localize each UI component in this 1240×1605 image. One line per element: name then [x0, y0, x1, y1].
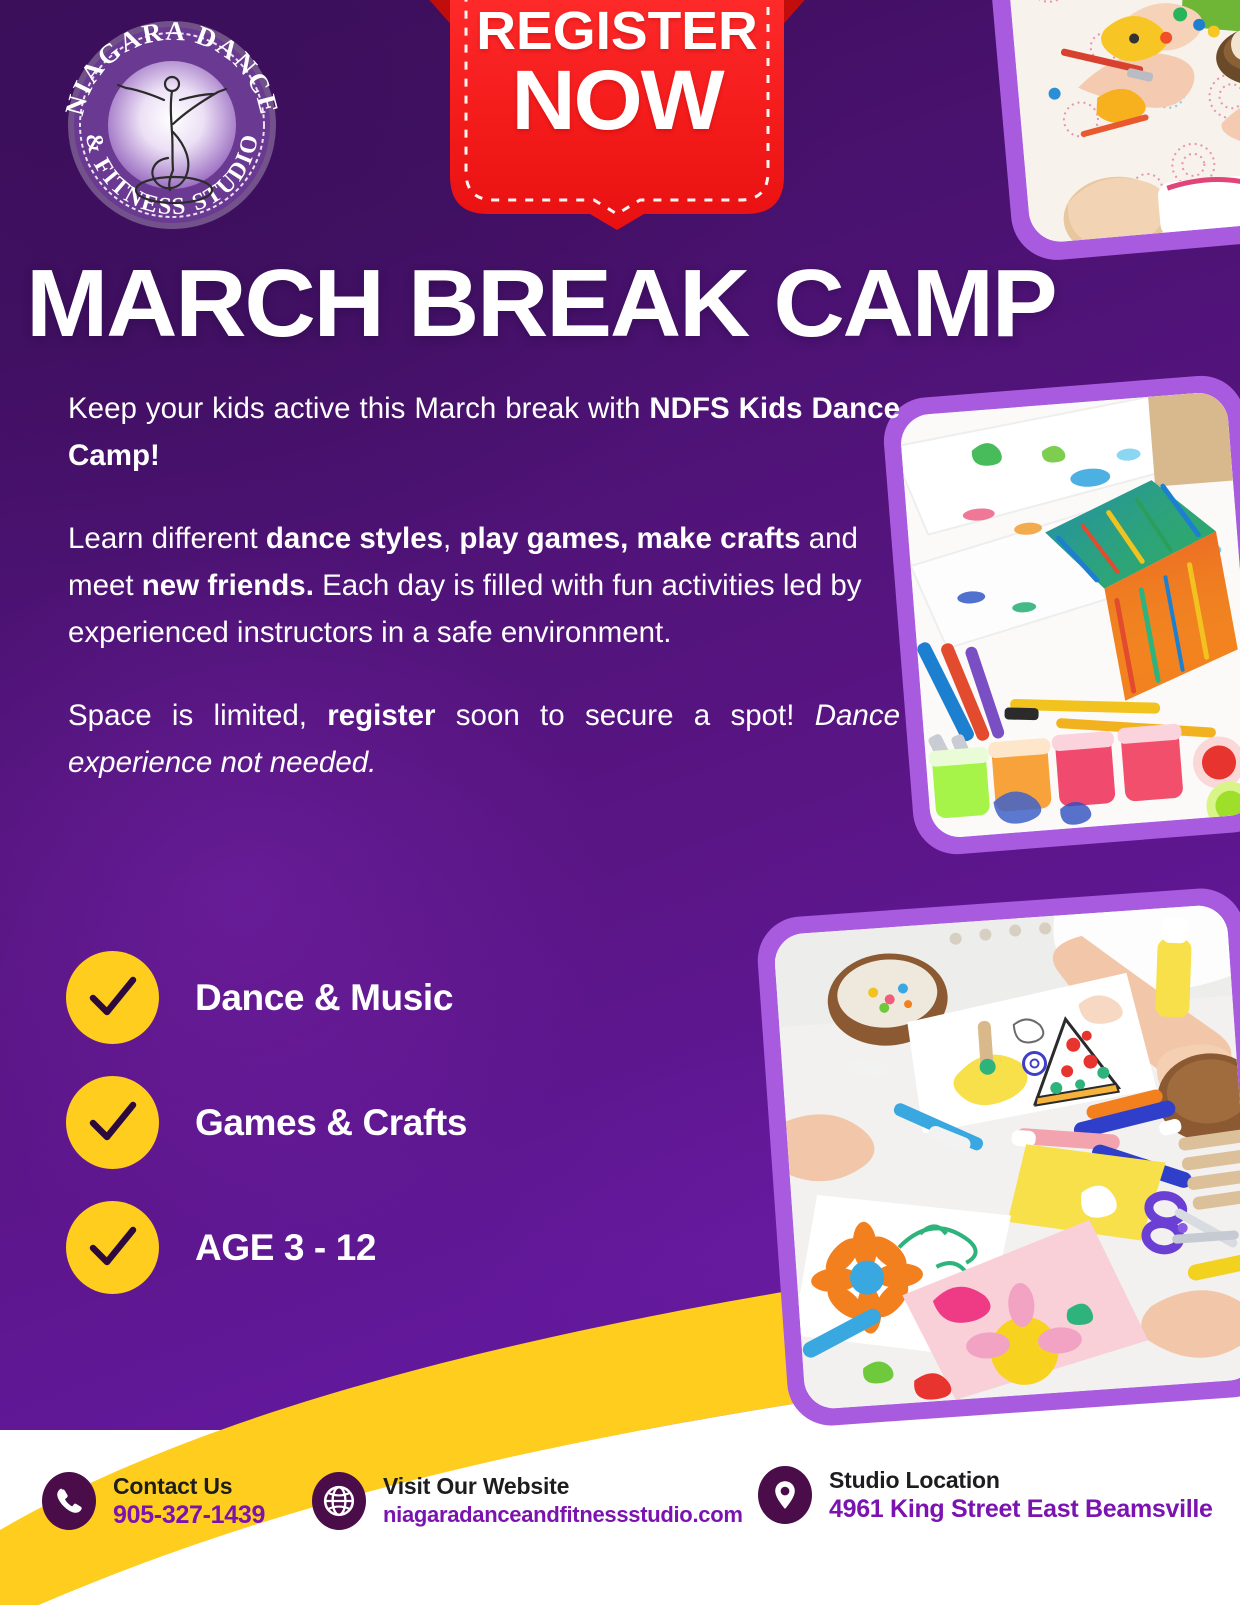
map-pin-icon-badge — [758, 1466, 812, 1524]
paint-jars-and-painted-house-photo — [881, 373, 1240, 858]
page-title: MARCH BREAK CAMP — [26, 252, 1240, 356]
checklist-label: Games & Crafts — [195, 1102, 467, 1144]
act-new-friends: new friends. — [142, 569, 314, 602]
checklist-label: Dance & Music — [195, 977, 453, 1019]
urg-c: soon to secure a spot! — [436, 699, 815, 732]
intro-paragraph: Keep your kids active this March break w… — [68, 385, 900, 479]
urgency-paragraph: Space is limited, register soon to secur… — [68, 692, 900, 786]
checklist-item-games-crafts: Games & Crafts — [66, 1060, 467, 1185]
act-dance-styles: dance styles — [266, 522, 443, 555]
checklist-item-age-range: AGE 3 - 12 — [66, 1185, 467, 1310]
poster-root: NIAGARA DANCE & FITNESS STUDIO — [0, 0, 1240, 1605]
check-icon — [83, 1218, 143, 1278]
check-icon — [83, 1093, 143, 1153]
act-make-crafts: make crafts — [637, 522, 801, 555]
phone-texts: Contact Us 905-327-1439 — [113, 1472, 265, 1530]
location-label: Studio Location — [829, 1466, 1213, 1494]
check-badge — [66, 951, 159, 1044]
studio-logo: NIAGARA DANCE & FITNESS STUDIO — [52, 12, 292, 238]
checklist-item-dance-music: Dance & Music — [66, 935, 467, 1060]
act-d — [628, 522, 636, 555]
body-copy: Keep your kids active this March break w… — [68, 385, 900, 822]
photo-image-top — [1005, 0, 1240, 244]
feature-checklist: Dance & Music Games & Crafts AGE 3 - 12 — [66, 935, 467, 1310]
photo-art-mid — [899, 391, 1240, 839]
checklist-label: AGE 3 - 12 — [195, 1227, 376, 1269]
urg-register: register — [327, 699, 435, 732]
phone-icon — [52, 1484, 86, 1518]
act-c: , — [443, 522, 459, 555]
phone-label: Contact Us — [113, 1472, 265, 1500]
kids-crafting-with-markers-photo — [755, 886, 1240, 1429]
ribbon-shape — [382, 0, 852, 230]
photo-image-bot — [773, 904, 1240, 1411]
act-play-games: play games, — [459, 522, 628, 555]
location-address: 4961 King Street East Beamsville — [829, 1494, 1213, 1524]
footer-contact-phone[interactable]: Contact Us 905-327-1439 — [42, 1472, 265, 1530]
location-texts: Studio Location 4961 King Street East Be… — [829, 1466, 1213, 1524]
kids-painting-easter-eggs-photo — [986, 0, 1240, 264]
act-a: Learn different — [68, 522, 266, 555]
footer-contact-bar: Contact Us 905-327-1439 Visit Our Websit… — [0, 1432, 1240, 1605]
map-pin-icon — [768, 1478, 802, 1512]
website-url: niagaradanceandfitnessstudio.com — [383, 1500, 743, 1530]
globe-icon — [322, 1484, 356, 1518]
website-label: Visit Our Website — [383, 1472, 743, 1500]
check-badge — [66, 1076, 159, 1169]
check-icon — [83, 968, 143, 1028]
photo-art-bot — [773, 904, 1240, 1411]
footer-location[interactable]: Studio Location 4961 King Street East Be… — [758, 1466, 1213, 1524]
check-badge — [66, 1201, 159, 1294]
activities-paragraph: Learn different dance styles, play games… — [68, 515, 900, 656]
phone-number: 905-327-1439 — [113, 1500, 265, 1530]
register-now-ribbon[interactable]: REGISTER NOW — [382, 0, 852, 230]
urg-a: Space is limited, — [68, 699, 327, 732]
photo-art-top — [1005, 0, 1240, 244]
footer-website[interactable]: Visit Our Website niagaradanceandfitness… — [312, 1472, 743, 1530]
photo-image-mid — [899, 391, 1240, 839]
phone-icon-badge — [42, 1472, 96, 1530]
intro-plain: Keep your kids active this March break w… — [68, 392, 640, 425]
studio-logo-badge: NIAGARA DANCE & FITNESS STUDIO — [52, 12, 292, 238]
globe-icon-badge — [312, 1472, 366, 1530]
website-texts: Visit Our Website niagaradanceandfitness… — [383, 1472, 743, 1530]
